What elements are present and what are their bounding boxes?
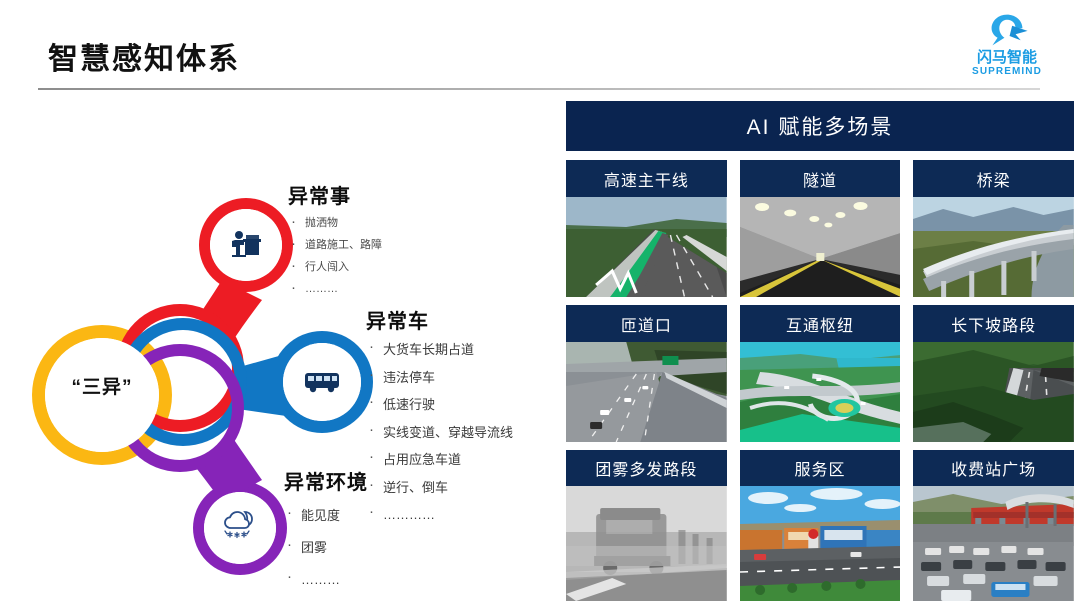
list-item: 道路施工、路障 <box>288 240 382 251</box>
list-item: 实线变道、穿越导流线 <box>366 426 513 439</box>
scene-image-service-area <box>740 486 901 601</box>
scene-image-interchange-hub <box>740 342 901 442</box>
logo-cn-name: 闪马智能 <box>960 50 1054 66</box>
card-label: 服务区 <box>740 450 901 486</box>
brand-logo: 闪马智能 SUPREMIND <box>960 12 1054 78</box>
three-abnormal-diagram: “三异” <box>0 150 560 600</box>
supremind-horse-logo-icon <box>981 12 1033 48</box>
scenario-card-long-downhill[interactable]: 长下坡路段 <box>913 305 1074 442</box>
list-item: 违法停车 <box>366 371 513 384</box>
logo-en-name: SUPREMIND <box>960 66 1054 78</box>
scene-image-highway-mainline <box>566 197 727 297</box>
list-item: ……… <box>288 284 382 295</box>
scenario-card-toll-plaza[interactable]: 收费站广场 <box>913 450 1074 601</box>
title-divider <box>38 88 1040 90</box>
card-label: 隧道 <box>740 160 901 197</box>
card-label: 桥梁 <box>913 160 1074 197</box>
scenario-card-service-area[interactable]: 服务区 <box>740 450 901 601</box>
branch-group-abnormal-vehicle: 异常车 大货车长期占道 违法停车 低速行驶 实线变道、穿越导流线 占用应急车道 … <box>366 305 513 536</box>
slide: 智慧感知体系 闪马智能 SUPREMIND <box>0 0 1080 608</box>
list-item: 团雾 <box>284 541 368 554</box>
branch-group-abnormal-event: 异常事 抛洒物 道路施工、路障 行人闯入 ……… <box>288 180 382 306</box>
branch-title: 异常环境 <box>284 466 368 495</box>
scene-image-dense-fog-section <box>566 486 727 601</box>
card-label: 团雾多发路段 <box>566 450 727 486</box>
list-item: 占用应急车道 <box>366 453 513 466</box>
scenario-card-highway-mainline[interactable]: 高速主干线 <box>566 160 727 297</box>
scenario-grid: 高速主干线 <box>566 160 1074 601</box>
panel-header: AI 赋能多场景 <box>566 101 1074 151</box>
branch-item-list: 能见度 团雾 ……… <box>284 509 368 586</box>
scenario-card-tunnel[interactable]: 隧道 <box>740 160 901 297</box>
page-title: 智慧感知体系 <box>48 34 240 78</box>
scene-image-toll-plaza <box>913 486 1074 601</box>
list-item: ………… <box>366 508 513 521</box>
card-label: 匝道口 <box>566 305 727 342</box>
scenario-card-interchange-hub[interactable]: 互通枢纽 <box>740 305 901 442</box>
list-item: 抛洒物 <box>288 218 382 229</box>
scenario-card-bridge[interactable]: 桥梁 <box>913 160 1074 297</box>
card-label: 长下坡路段 <box>913 305 1074 342</box>
card-label: 收费站广场 <box>913 450 1074 486</box>
scene-image-long-downhill <box>913 342 1074 442</box>
branch-group-abnormal-environment: 异常环境 能见度 团雾 ……… <box>284 466 368 605</box>
list-item: 大货车长期占道 <box>366 343 513 356</box>
list-item: ……… <box>284 573 368 586</box>
branch-title: 异常事 <box>288 180 382 209</box>
branch-item-list: 抛洒物 道路施工、路障 行人闯入 ……… <box>288 218 382 295</box>
scenario-panel: AI 赋能多场景 高速主干线 <box>566 101 1074 601</box>
list-item: 行人闯入 <box>288 262 382 273</box>
scenario-card-ramp-entrance[interactable]: 匝道口 <box>566 305 727 442</box>
card-label: 互通枢纽 <box>740 305 901 342</box>
list-item: 逆行、倒车 <box>366 481 513 494</box>
scene-image-bridge <box>913 197 1074 297</box>
scenario-card-dense-fog-section[interactable]: 团雾多发路段 <box>566 450 727 601</box>
branch-item-list: 大货车长期占道 违法停车 低速行驶 实线变道、穿越导流线 占用应急车道 逆行、倒… <box>366 343 513 521</box>
hub-label: “三异” <box>36 372 168 399</box>
card-label: 高速主干线 <box>566 160 727 197</box>
list-item: 低速行驶 <box>366 398 513 411</box>
branch-title: 异常车 <box>366 305 513 334</box>
scene-image-tunnel <box>740 197 901 297</box>
list-item: 能见度 <box>284 509 368 522</box>
scene-image-ramp-entrance <box>566 342 727 442</box>
